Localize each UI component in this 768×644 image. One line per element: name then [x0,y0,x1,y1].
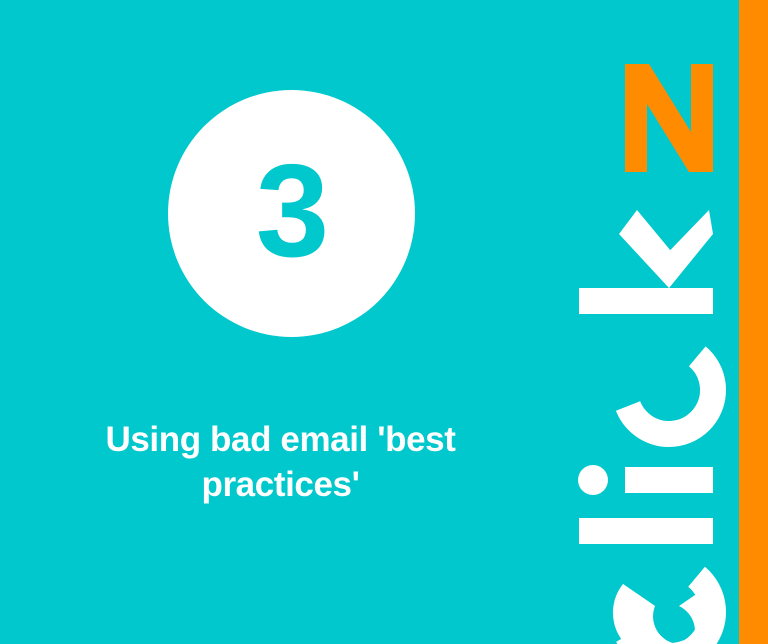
badge-number-text: 3 [256,145,327,277]
slide-canvas: 3 Using bad email 'best practices' [0,0,768,644]
logo-letter-k [579,210,713,314]
clickz-logo[interactable] [546,0,768,644]
logo-letter-c-1 [602,547,732,644]
clickz-logo-rotor [557,0,757,644]
logo-letter-z [625,64,713,172]
orange-accent-bar [739,0,768,644]
headline-text: Using bad email 'best practices' [28,418,533,508]
clickz-wordmark-svg [557,0,757,644]
logo-letter-l [579,518,713,544]
logo-letter-i [578,465,713,495]
logo-letter-c-2 [607,328,731,452]
number-badge: 3 [168,90,415,337]
